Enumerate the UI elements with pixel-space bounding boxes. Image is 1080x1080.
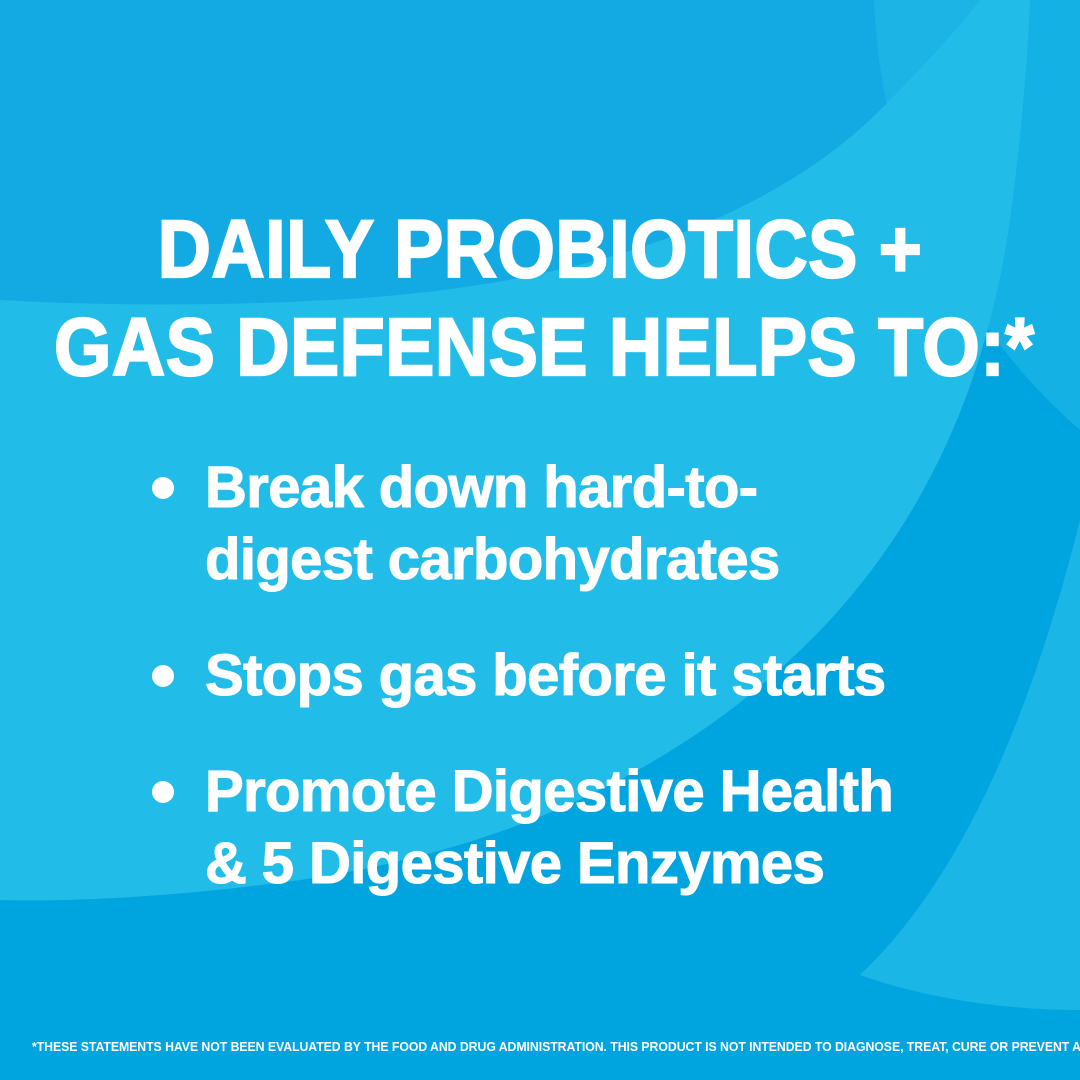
bullet-dot-icon (152, 477, 174, 499)
headline-line-1: DAILY PROBIOTICS + (54, 201, 1026, 299)
bullet-line: Promote Digestive Health (205, 756, 1028, 828)
promo-poster: DAILY PROBIOTICS + GAS DEFENSE HELPS TO:… (0, 0, 1080, 1080)
bullet-line: Break down hard-to- (205, 452, 1028, 524)
list-item: Stops gas before it starts (148, 640, 1028, 712)
fda-disclaimer: *THESE STATEMENTS HAVE NOT BEEN EVALUATE… (32, 1040, 1023, 1055)
headline-line-2: GAS DEFENSE HELPS TO:* (54, 299, 1026, 397)
bullet-line: & 5 Digestive Enzymes (205, 828, 1028, 900)
bullet-dot-icon (152, 781, 174, 803)
bullet-dot-icon (152, 665, 174, 687)
bullet-text: Promote Digestive Health & 5 Digestive E… (205, 756, 1028, 900)
bullet-text: Break down hard-to- digest carbohydrates (205, 452, 1028, 596)
page-title: DAILY PROBIOTICS + GAS DEFENSE HELPS TO:… (54, 201, 1026, 397)
list-item: Promote Digestive Health & 5 Digestive E… (148, 756, 1028, 900)
bullet-line: digest carbohydrates (205, 524, 1028, 596)
bullet-text: Stops gas before it starts (205, 640, 1028, 712)
benefits-list: Break down hard-to- digest carbohydrates… (148, 452, 1028, 900)
list-item: Break down hard-to- digest carbohydrates (148, 452, 1028, 596)
bullet-line: Stops gas before it starts (205, 640, 1028, 712)
